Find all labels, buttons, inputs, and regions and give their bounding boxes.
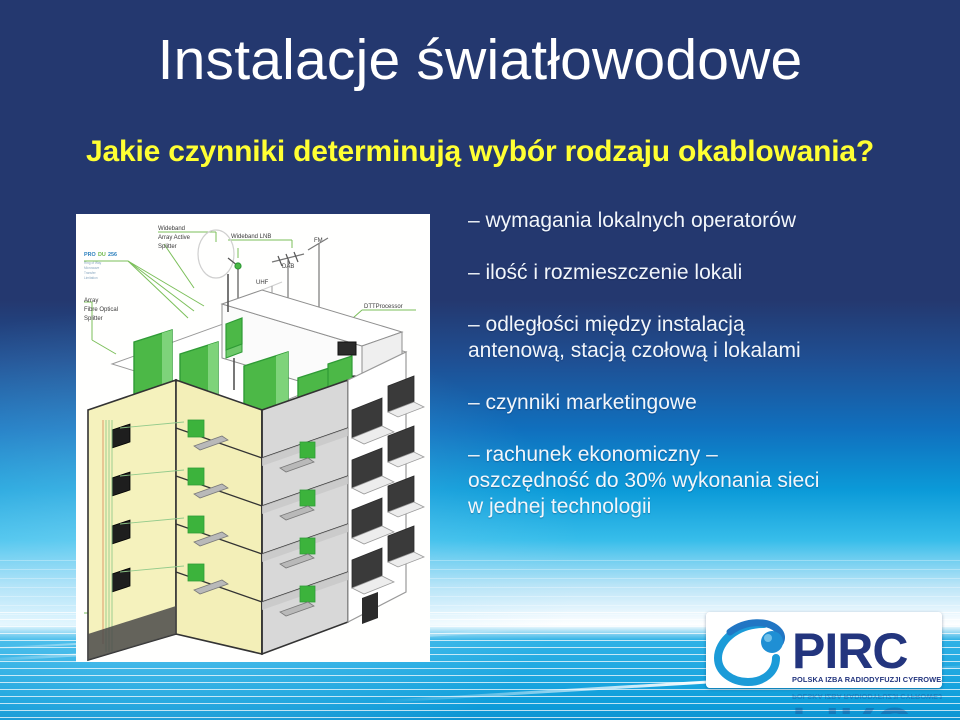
svg-text:Splitter: Splitter <box>158 244 177 250</box>
svg-text:Splitter: Splitter <box>84 316 103 322</box>
svg-text:UHF: UHF <box>256 280 269 286</box>
page-subtitle: Jakie czynniki determinują wybór rodzaju… <box>0 133 960 171</box>
list-item: – wymagania lokalnych operatorów <box>468 208 952 234</box>
bullet-line: – odległości między instalacją <box>468 312 952 338</box>
svg-text:Ring of Way: Ring of Way <box>84 261 102 265</box>
bullet-line: antenową, stacją czołową i lokalami <box>468 338 952 364</box>
list-item: – rachunek ekonomiczny – oszczędność do … <box>468 442 952 520</box>
bullet-list: – wymagania lokalnych operatorów – ilość… <box>468 208 952 546</box>
logo-wordmark: PIRC <box>792 623 907 679</box>
logo-reflection: PIRC POLSKA IZBA RADIODYFUZJI CYFROWEJ <box>706 688 942 714</box>
svg-text:Limitation: Limitation <box>84 276 98 280</box>
bullet-line: – wymagania lokalnych operatorów <box>468 208 952 234</box>
bullet-line: – rachunek ekonomiczny – <box>468 442 952 468</box>
svg-text:Wideband: Wideband <box>158 226 185 232</box>
svg-text:256: 256 <box>108 252 117 258</box>
svg-text:DU: DU <box>98 252 106 258</box>
page-title: Instalacje światłowodowe <box>0 28 960 92</box>
bullet-line: – czynniki marketingowe <box>468 390 952 416</box>
svg-text:Transfer: Transfer <box>84 271 97 275</box>
list-item: – czynniki marketingowe <box>468 390 952 416</box>
list-item: – ilość i rozmieszczenie lokali <box>468 260 952 286</box>
svg-text:Fibre Optical: Fibre Optical <box>84 307 118 313</box>
bullet-line: w jednej technologii <box>468 494 952 520</box>
pirc-logo: PIRC POLSKA IZBA RADIODYFUZJI CYFROWEJ <box>706 612 942 688</box>
svg-text:Microwave: Microwave <box>84 266 99 270</box>
bullet-line: – ilość i rozmieszczenie lokali <box>468 260 952 286</box>
svg-text:PRO: PRO <box>84 252 96 258</box>
logo-tagline: POLSKA IZBA RADIODYFUZJI CYFROWEJ <box>792 675 942 684</box>
list-item: – odległości między instalacją antenową,… <box>468 312 952 364</box>
slide-canvas: Instalacje światłowodowe Jakie czynniki … <box>0 0 960 720</box>
svg-text:Wideband LNB: Wideband LNB <box>231 234 271 240</box>
diagram-image: PRO DU 256 Ring of Way Microwave Transfe… <box>76 214 430 662</box>
svg-text:Array Active: Array Active <box>158 235 191 241</box>
svg-text:Array: Array <box>84 298 98 304</box>
svg-text:POLSKA IZBA RADIODYFUZJI CYFRO: POLSKA IZBA RADIODYFUZJI CYFROWEJ <box>792 692 942 701</box>
svg-text:DTTProcessor: DTTProcessor <box>364 304 403 310</box>
bullet-line: oszczędność do 30% wykonania sieci <box>468 468 952 494</box>
